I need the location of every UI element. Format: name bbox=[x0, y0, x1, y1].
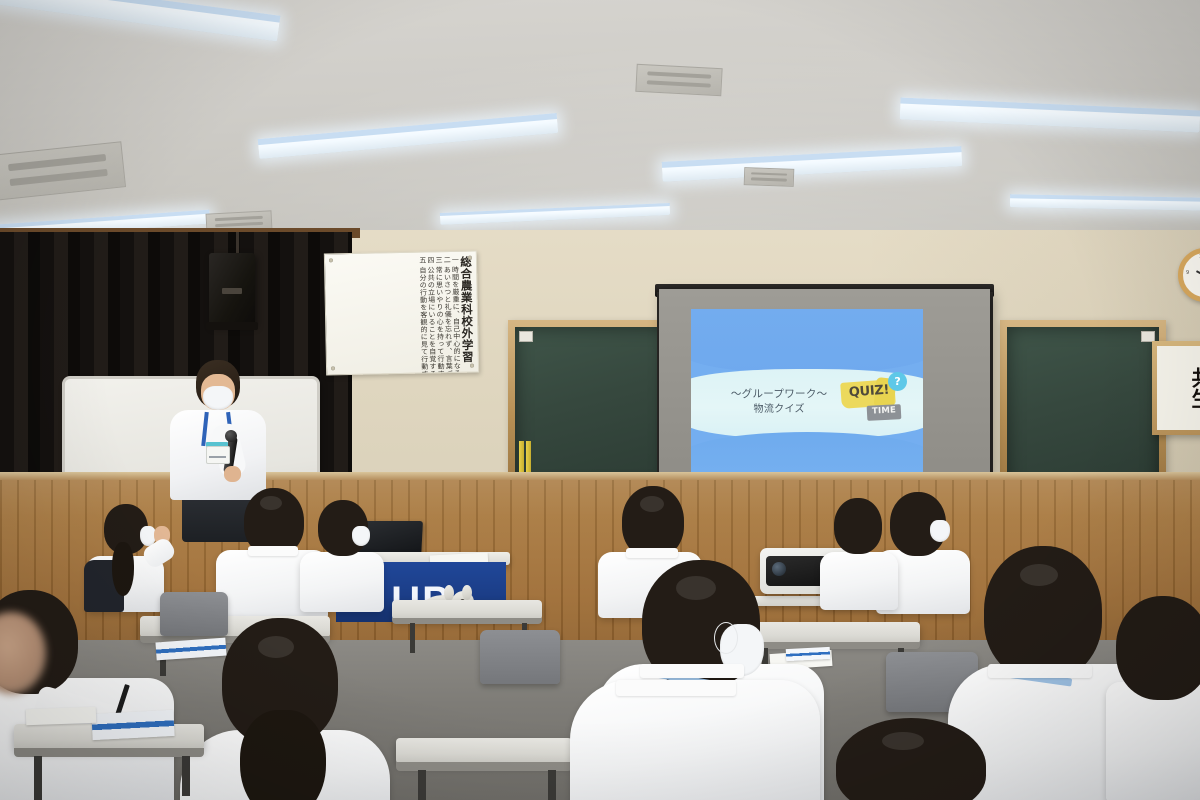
microphone-head bbox=[225, 430, 237, 442]
desk-leg bbox=[34, 756, 42, 800]
student-desk bbox=[392, 600, 542, 620]
quiz-time-badge: QUIZ! TIME ? bbox=[841, 372, 909, 424]
desk-leg bbox=[418, 770, 426, 800]
hair-highlight bbox=[258, 636, 294, 658]
ponytail bbox=[112, 542, 134, 596]
plush-ear bbox=[444, 585, 454, 601]
clock-tick: 9 bbox=[1186, 270, 1189, 276]
student-shirt bbox=[300, 552, 384, 612]
hair-highlight bbox=[640, 496, 664, 512]
speaker-base bbox=[206, 322, 258, 330]
face-mask bbox=[352, 526, 370, 546]
clock-hour-hand bbox=[1196, 270, 1200, 276]
projected-slide: 〜グループワーク〜 物流クイズ QUIZ! TIME ? bbox=[691, 309, 923, 484]
student bbox=[836, 718, 1006, 800]
desk-leg bbox=[182, 756, 190, 796]
face-mask bbox=[203, 386, 233, 410]
chalk-box bbox=[519, 331, 533, 342]
calligraphy-paper: 共生 bbox=[1157, 346, 1200, 430]
id-badge bbox=[206, 446, 230, 464]
slide-band-top bbox=[691, 309, 923, 374]
shirt-collar bbox=[616, 680, 736, 696]
student-desk bbox=[396, 738, 572, 764]
poster-pin bbox=[470, 364, 474, 368]
poster-title: 総合農業科校外学習 bbox=[459, 256, 473, 363]
student-head bbox=[1116, 596, 1200, 700]
blackboard-left bbox=[508, 320, 682, 496]
wall-poster: 総合農業科校外学習 一 時間を厳重に、自己中心的になることなく常に団体行動を考え… bbox=[324, 251, 479, 376]
worksheet bbox=[26, 707, 97, 725]
long-hair bbox=[240, 710, 326, 800]
time-label: TIME bbox=[867, 405, 901, 417]
student bbox=[0, 590, 174, 800]
shirt-collar bbox=[626, 548, 678, 558]
student bbox=[820, 498, 900, 608]
student-head bbox=[834, 498, 882, 554]
question-mark-icon: ? bbox=[888, 372, 907, 391]
hair-highlight bbox=[260, 496, 282, 510]
poster-pin bbox=[329, 258, 333, 262]
blackboard-surface bbox=[1007, 327, 1159, 493]
face-mask bbox=[930, 520, 950, 542]
hair-highlight bbox=[882, 732, 924, 750]
shirt-collar bbox=[988, 664, 1092, 678]
student-head bbox=[836, 718, 986, 800]
worksheet-blue bbox=[91, 710, 174, 740]
desk-leg bbox=[410, 623, 415, 653]
presenter-hand bbox=[224, 466, 241, 482]
hair-highlight bbox=[676, 576, 716, 600]
ceiling-vent bbox=[744, 167, 795, 187]
desk-edge bbox=[14, 748, 204, 757]
plush-ear bbox=[462, 585, 472, 600]
classroom-photo: 総合農業科校外学習 一 時間を厳重に、自己中心的になることなく常に団体行動を考え… bbox=[0, 0, 1200, 800]
slide-text-block: 〜グループワーク〜 物流クイズ bbox=[712, 386, 847, 418]
student bbox=[570, 640, 820, 800]
student-shirt bbox=[570, 680, 820, 800]
hair-highlight bbox=[1020, 564, 1058, 586]
student bbox=[1106, 596, 1200, 800]
student-shirt bbox=[820, 552, 898, 610]
ceiling-speaker bbox=[209, 253, 255, 325]
shirt-collar bbox=[248, 546, 298, 556]
slide-title: 物流クイズ bbox=[712, 402, 847, 418]
ceiling-vent bbox=[635, 64, 722, 96]
poster-pin bbox=[468, 256, 472, 260]
slide-subtitle: 〜グループワーク〜 bbox=[712, 386, 847, 402]
calligraphy-text: 共生 bbox=[1190, 367, 1200, 409]
framed-calligraphy: 共生 bbox=[1152, 341, 1200, 435]
blackboard-surface bbox=[515, 327, 675, 489]
chair bbox=[480, 630, 560, 684]
poster-pin bbox=[331, 366, 335, 370]
desk-leg bbox=[548, 770, 556, 800]
student bbox=[300, 500, 386, 610]
